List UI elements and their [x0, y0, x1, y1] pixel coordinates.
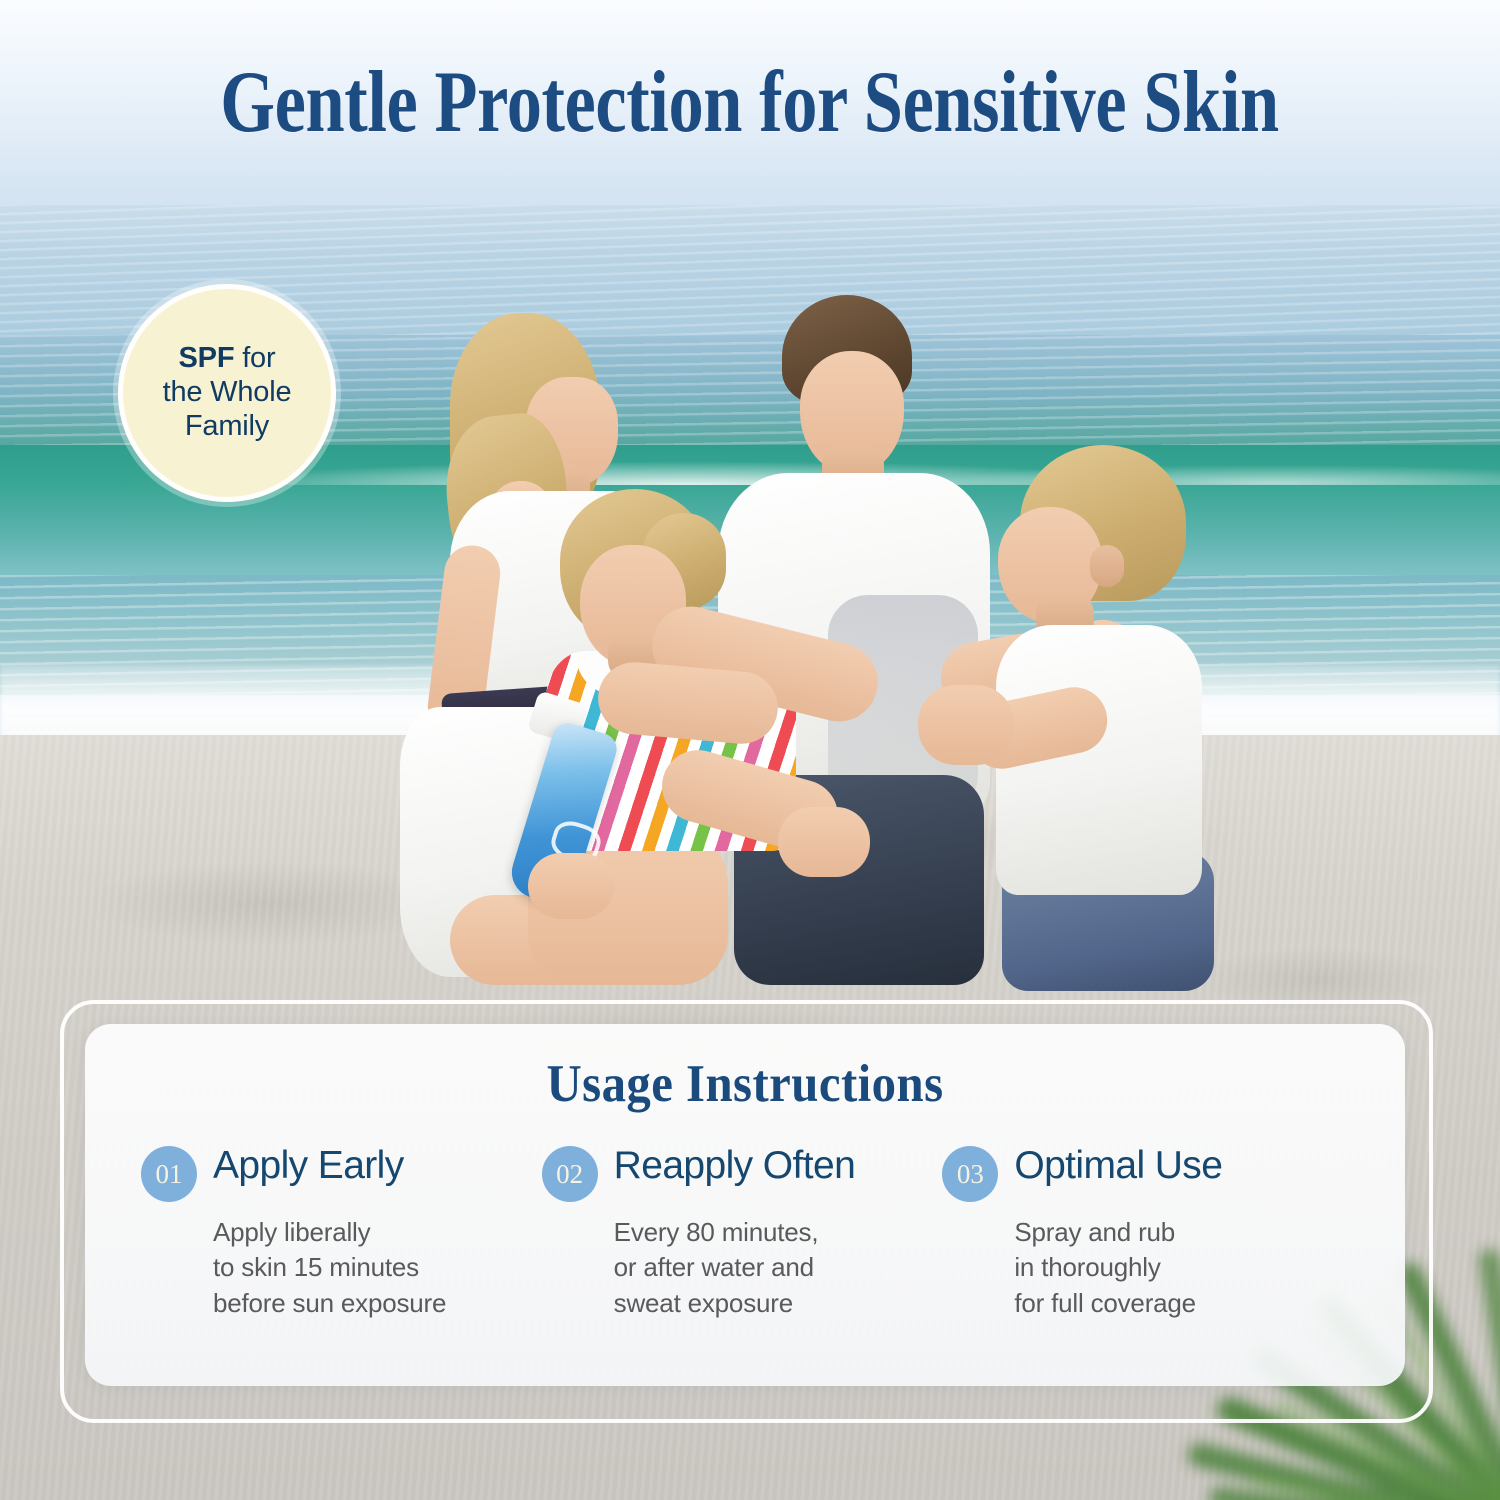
usage-instructions-panel: Usage Instructions 01 Apply Early Apply …: [85, 1024, 1405, 1386]
step-1-head: 01 Apply Early: [141, 1142, 518, 1202]
header-band: Gentle Protection for Sensitive Skin: [0, 0, 1500, 205]
spf-badge-line2: the Whole: [163, 376, 292, 408]
instruction-step-2: 02 Reapply Often Every 80 minutes, or af…: [542, 1142, 943, 1321]
step-2-head: 02 Reapply Often: [542, 1142, 919, 1202]
step-2-body: Every 80 minutes, or after water and swe…: [614, 1215, 919, 1321]
step-1-body: Apply liberally to skin 15 minutes befor…: [213, 1215, 518, 1321]
step-2-title: Reapply Often: [614, 1142, 856, 1187]
spf-badge-bold: SPF: [179, 342, 235, 374]
son-ear: [1090, 545, 1124, 587]
instruction-step-1: 01 Apply Early Apply liberally to skin 1…: [141, 1142, 542, 1321]
mother-hand: [528, 853, 614, 919]
family-group: [330, 295, 1210, 975]
instruction-step-3: 03 Optimal Use Spray and rub in thorough…: [942, 1142, 1343, 1321]
poster-root: Gentle Protection for Sensitive Skin: [0, 0, 1500, 1500]
instruction-steps: 01 Apply Early Apply liberally to skin 1…: [85, 1142, 1405, 1321]
spf-badge: SPF for the Whole Family: [118, 284, 336, 502]
step-1-title: Apply Early: [213, 1142, 404, 1187]
step-3-number-badge: 03: [942, 1146, 998, 1202]
instructions-title: Usage Instructions: [138, 1054, 1352, 1114]
page-title: Gentle Protection for Sensitive Skin: [221, 59, 1279, 147]
spf-badge-line1-rest: for: [234, 342, 275, 374]
spf-badge-text: SPF for the Whole Family: [163, 342, 292, 444]
spf-badge-line3: Family: [185, 410, 269, 442]
step-1-number-badge: 01: [141, 1146, 197, 1202]
step-3-head: 03 Optimal Use: [942, 1142, 1319, 1202]
step-2-number-badge: 02: [542, 1146, 598, 1202]
step-3-body: Spray and rub in thoroughly for full cov…: [1014, 1215, 1319, 1321]
father-right-hand: [918, 685, 1014, 765]
daughter-hand: [778, 807, 870, 877]
step-3-title: Optimal Use: [1014, 1142, 1222, 1187]
